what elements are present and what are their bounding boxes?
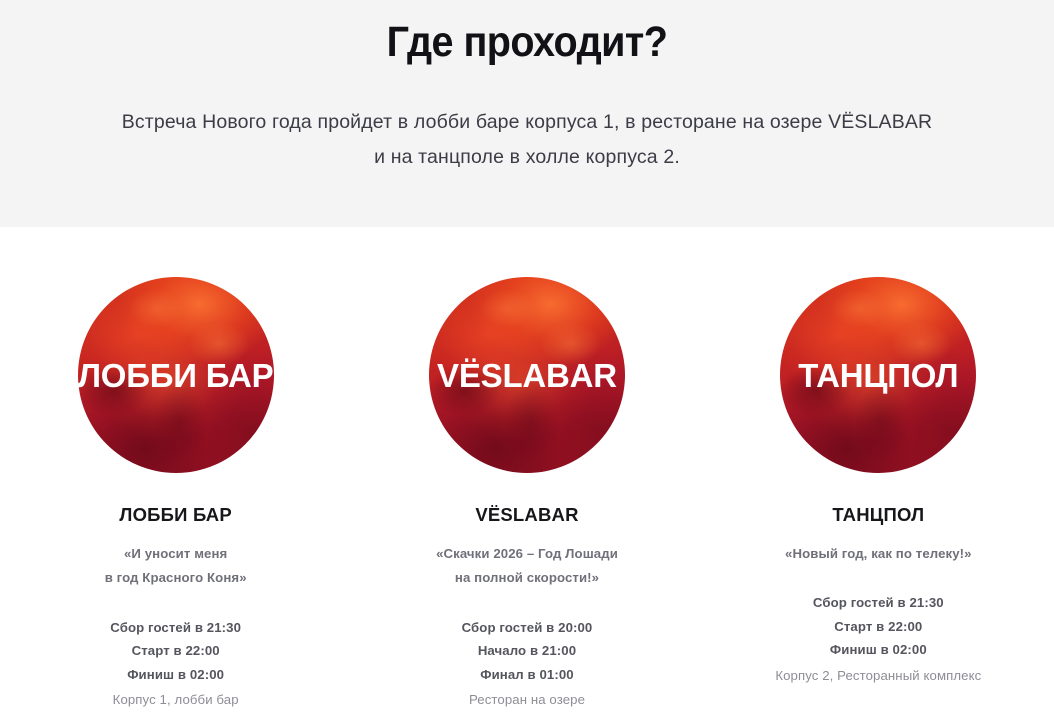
card-quote: «Новый год, как по телеку!» xyxy=(785,526,972,566)
venue-card-list: ЛОББИ БАР ЛОББИ БАР «И уносит меня в год… xyxy=(0,227,1054,712)
schedule-line: Сбор гостей в 21:30 xyxy=(110,616,241,640)
venue-card-dancefloor[interactable]: ТАНЦПОЛ ТАНЦПОЛ «Новый год, как по телек… xyxy=(703,277,1054,687)
card-schedule: Сбор гостей в 20:00 Начало в 21:00 Финал… xyxy=(462,591,593,712)
venue-card-lobby-bar[interactable]: ЛОББИ БАР ЛОББИ БАР «И уносит меня в год… xyxy=(0,277,351,712)
card-quote-line-1: «Скачки 2026 – Год Лошади xyxy=(436,546,618,561)
card-location: Ресторан на озере xyxy=(462,686,593,712)
section-header-band: Где проходит? Встреча Нового года пройде… xyxy=(0,0,1054,227)
venue-badge-lobby-bar[interactable]: ЛОББИ БАР xyxy=(78,277,274,473)
schedule-line: Старт в 22:00 xyxy=(775,615,981,639)
card-quote-line-1: «И уносит меня xyxy=(124,546,227,561)
card-quote: «И уносит меня в год Красного Коня» xyxy=(105,526,247,591)
card-quote-line-1: «Новый год, как по телеку!» xyxy=(785,546,972,561)
card-schedule: Сбор гостей в 21:30 Старт в 22:00 Финиш … xyxy=(775,566,981,687)
intro-paragraph: Встреча Нового года пройдет в лобби баре… xyxy=(0,67,1054,174)
schedule-line: Финиш в 02:00 xyxy=(110,663,241,687)
intro-line-1: Встреча Нового года пройдет в лобби баре… xyxy=(122,111,933,133)
card-title: ТАНЦПОЛ xyxy=(832,473,924,526)
card-schedule: Сбор гостей в 21:30 Старт в 22:00 Финиш … xyxy=(110,591,241,712)
schedule-line: Финиш в 02:00 xyxy=(775,638,981,662)
card-quote-line-2: в год Красного Коня» xyxy=(105,570,247,585)
venue-badge-veslabar[interactable]: VËSLABAR xyxy=(429,277,625,473)
card-title: ЛОББИ БАР xyxy=(119,473,232,526)
card-quote: «Скачки 2026 – Год Лошади на полной скор… xyxy=(436,526,618,591)
badge-label: ТАНЦПОЛ xyxy=(798,359,958,392)
intro-line-2: и на танцполе в холле корпуса 2. xyxy=(374,146,680,168)
card-location: Корпус 1, лобби бар xyxy=(110,686,241,712)
venue-badge-dancefloor[interactable]: ТАНЦПОЛ xyxy=(780,277,976,473)
schedule-line: Начало в 21:00 xyxy=(462,639,593,663)
badge-label: VËSLABAR xyxy=(437,359,617,392)
card-quote-line-2: на полной скорости!» xyxy=(455,570,599,585)
badge-label: ЛОББИ БАР xyxy=(78,359,274,392)
schedule-line: Сбор гостей в 20:00 xyxy=(462,616,593,640)
schedule-line: Финал в 01:00 xyxy=(462,663,593,687)
schedule-line: Сбор гостей в 21:30 xyxy=(775,591,981,615)
venue-card-veslabar[interactable]: VËSLABAR VËSLABAR «Скачки 2026 – Год Лош… xyxy=(351,277,702,712)
page-title: Где проходит? xyxy=(42,0,1012,67)
card-location: Корпус 2, Ресторанный комплекс xyxy=(775,662,981,688)
schedule-line: Старт в 22:00 xyxy=(110,639,241,663)
card-title: VËSLABAR xyxy=(475,473,578,526)
